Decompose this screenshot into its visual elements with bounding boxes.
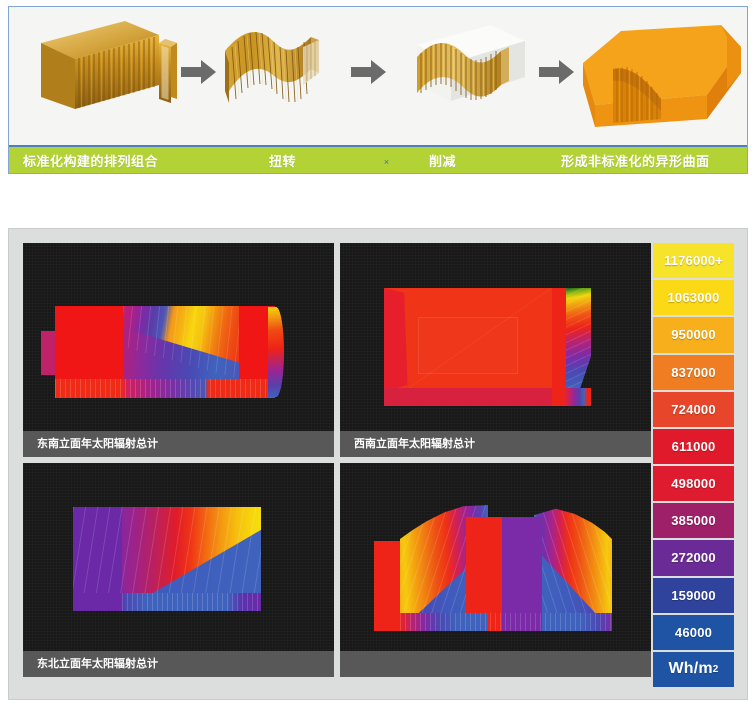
twisted-wave-array-icon <box>215 7 355 145</box>
panel-label-northeast: 东北立面年太阳辐射总计 <box>23 651 334 677</box>
arrow-right-icon <box>537 57 577 87</box>
caption-subtract: 削减 <box>429 151 456 170</box>
caption-twist: 扭转 <box>269 151 296 170</box>
figure-base-ticks <box>400 613 612 631</box>
diagram-step-1 <box>215 7 355 145</box>
figure-base-ticks <box>55 379 275 398</box>
panel-southwest-viewport <box>340 243 651 431</box>
facade-panel-grid: 东南立面年太阳辐射总计 西 <box>23 243 651 687</box>
legend-swatch-272000[interactable]: 272000 <box>653 540 734 575</box>
panel-label-southeast: 东南立面年太阳辐射总计 <box>23 431 334 457</box>
solid-freeform-surface-icon <box>575 7 747 145</box>
diagram-arrow-1 <box>349 57 389 87</box>
legend-unit-text: Wh/m <box>668 660 712 678</box>
diagram-step-2 <box>395 7 541 145</box>
legend-swatch-724000[interactable]: 724000 <box>653 392 734 427</box>
legend-unit-exponent: 2 <box>713 664 719 675</box>
layered-slab-array-icon <box>27 7 197 145</box>
diagram-step-3 <box>575 7 747 145</box>
figure-base-ticks <box>122 593 261 611</box>
figure-base-band <box>384 388 552 406</box>
legend-swatch-611000[interactable]: 611000 <box>653 429 734 464</box>
panel-southwest-facade[interactable]: 西南立面年太阳辐射总计 <box>340 243 651 457</box>
arrow-right-icon <box>349 57 389 87</box>
process-caption-bar: 标准化构建的排列组合 扭转 × 削减 形成非标准化的异形曲面 <box>9 145 747 173</box>
solar-analysis-section: 东南立面年太阳辐射总计 西 <box>8 228 748 700</box>
twin-wave-radiation-figure <box>374 505 612 631</box>
legend-swatch-385000[interactable]: 385000 <box>653 503 734 538</box>
southwest-radiation-figure <box>384 288 592 406</box>
caption-marker-icon: × <box>383 159 390 166</box>
panel-northeast-viewport <box>23 463 334 651</box>
diagram-step-0 <box>27 7 197 145</box>
legend-swatch-1063000[interactable]: 1063000 <box>653 280 734 315</box>
legend-swatch-1176000[interactable]: 1176000+ <box>653 243 734 278</box>
legend-swatch-837000[interactable]: 837000 <box>653 355 734 390</box>
solar-radiation-legend: 1176000+ 1063000 950000 837000 724000 61… <box>653 243 734 687</box>
diagram-stage <box>9 7 747 145</box>
legend-swatch-498000[interactable]: 498000 <box>653 466 734 501</box>
diagram-arrow-0 <box>179 57 219 87</box>
figure-curved-cap <box>268 307 284 397</box>
caption-freeform-surface: 形成非标准化的异形曲面 <box>561 151 710 170</box>
page-root: 标准化构建的排列组合 扭转 × 削减 形成非标准化的异形曲面 <box>0 0 756 706</box>
figure-edge-base <box>552 388 591 406</box>
caption-standardized-array: 标准化构建的排列组合 <box>23 151 158 170</box>
panel-southeast-viewport <box>23 243 334 431</box>
subtracted-block-icon <box>395 7 541 145</box>
panel-label-southwest: 西南立面年太阳辐射总计 <box>340 431 651 457</box>
figure-ghost-rect <box>418 317 518 374</box>
legend-swatch-46000[interactable]: 46000 <box>653 615 734 650</box>
legend-unit-label: Wh/m2 <box>653 652 734 687</box>
process-diagram-section: 标准化构建的排列组合 扭转 × 削减 形成非标准化的异形曲面 <box>8 6 748 174</box>
panel-northeast-facade[interactable]: 东北立面年太阳辐射总计 <box>23 463 334 677</box>
southeast-radiation-figure <box>55 306 281 398</box>
legend-swatch-159000[interactable]: 159000 <box>653 578 734 613</box>
arrow-right-icon <box>179 57 219 87</box>
panel-southeast-facade[interactable]: 东南立面年太阳辐射总计 <box>23 243 334 457</box>
panel-unlabeled-facade[interactable] <box>340 463 651 677</box>
northeast-radiation-figure <box>73 507 261 611</box>
diagram-arrow-2 <box>537 57 577 87</box>
legend-swatch-950000[interactable]: 950000 <box>653 317 734 352</box>
panel-label-unlabeled <box>340 651 651 677</box>
panel-unlabeled-viewport <box>340 463 651 651</box>
